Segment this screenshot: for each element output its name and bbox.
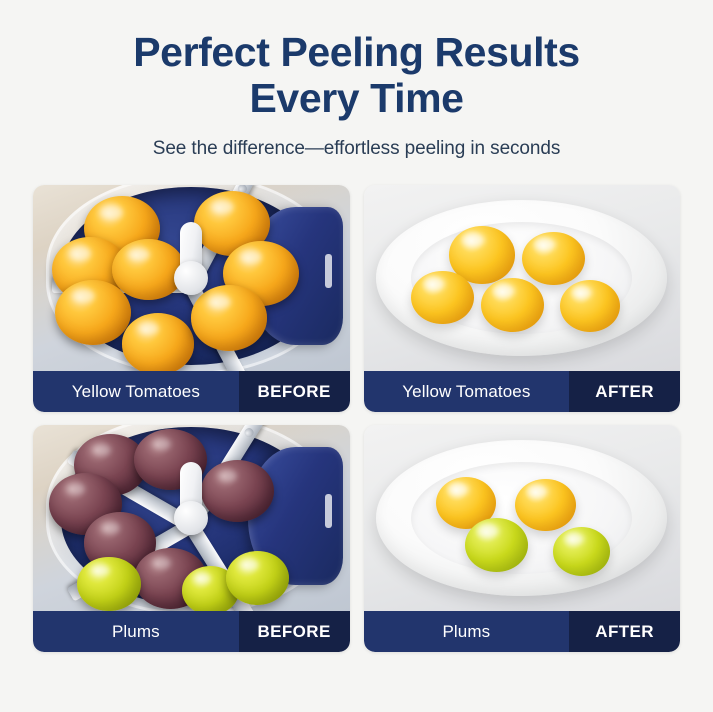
peeler-scene — [33, 425, 350, 611]
header-section: Perfect Peeling Results Every Time See t… — [0, 0, 713, 160]
chute-slot — [325, 494, 332, 528]
comparison-card-plums-after[interactable]: Plums AFTER — [364, 425, 681, 652]
comparison-card-tomatoes-after[interactable]: Yellow Tomatoes AFTER — [364, 185, 681, 412]
card-label-bar: Yellow Tomatoes BEFORE — [33, 371, 350, 412]
headline-line-2: Every Time — [0, 76, 713, 122]
photo-plums-before — [33, 425, 350, 611]
card-label-bar: Plums AFTER — [364, 611, 681, 652]
peeler-hub — [174, 501, 208, 535]
card-label-bar: Plums BEFORE — [33, 611, 350, 652]
fruit-item — [122, 313, 195, 371]
fruit-item — [77, 557, 140, 611]
card-label-bar: Yellow Tomatoes AFTER — [364, 371, 681, 412]
card-fruit-label: Plums — [364, 611, 570, 652]
peeler-hub — [174, 261, 208, 295]
peeler-scene — [33, 185, 350, 371]
card-fruit-label: Yellow Tomatoes — [364, 371, 570, 412]
fruit-item — [481, 278, 544, 332]
fruit-item — [522, 232, 585, 286]
photo-plums-after — [364, 425, 681, 611]
fruit-item — [515, 479, 575, 531]
chute-slot — [325, 254, 332, 288]
fruit-item — [55, 280, 131, 345]
page-title: Perfect Peeling Results Every Time — [0, 30, 713, 122]
fruit-item — [553, 527, 610, 575]
plate-scene — [364, 185, 681, 371]
fruit-item — [560, 280, 620, 332]
fruit-item — [191, 285, 267, 350]
card-stage-badge: AFTER — [569, 611, 680, 652]
card-stage-badge: BEFORE — [239, 611, 350, 652]
photo-tomatoes-before — [33, 185, 350, 371]
photo-tomatoes-after — [364, 185, 681, 371]
page-subtitle: See the difference—effortless peeling in… — [0, 138, 713, 160]
card-stage-badge: AFTER — [569, 371, 680, 412]
fruit-item — [465, 518, 528, 572]
card-stage-badge: BEFORE — [239, 371, 350, 412]
plate-scene — [364, 425, 681, 611]
comparison-card-tomatoes-before[interactable]: Yellow Tomatoes BEFORE — [33, 185, 350, 412]
fruit-item — [201, 460, 274, 521]
comparison-card-plums-before[interactable]: Plums BEFORE — [33, 425, 350, 652]
card-fruit-label: Yellow Tomatoes — [33, 371, 239, 412]
comparison-grid: Yellow Tomatoes BEFORE Yellow Tomatoes A… — [33, 185, 680, 652]
fruit-item — [226, 551, 289, 605]
fruit-item — [112, 239, 185, 300]
headline-line-1: Perfect Peeling Results — [133, 29, 580, 75]
card-fruit-label: Plums — [33, 611, 239, 652]
